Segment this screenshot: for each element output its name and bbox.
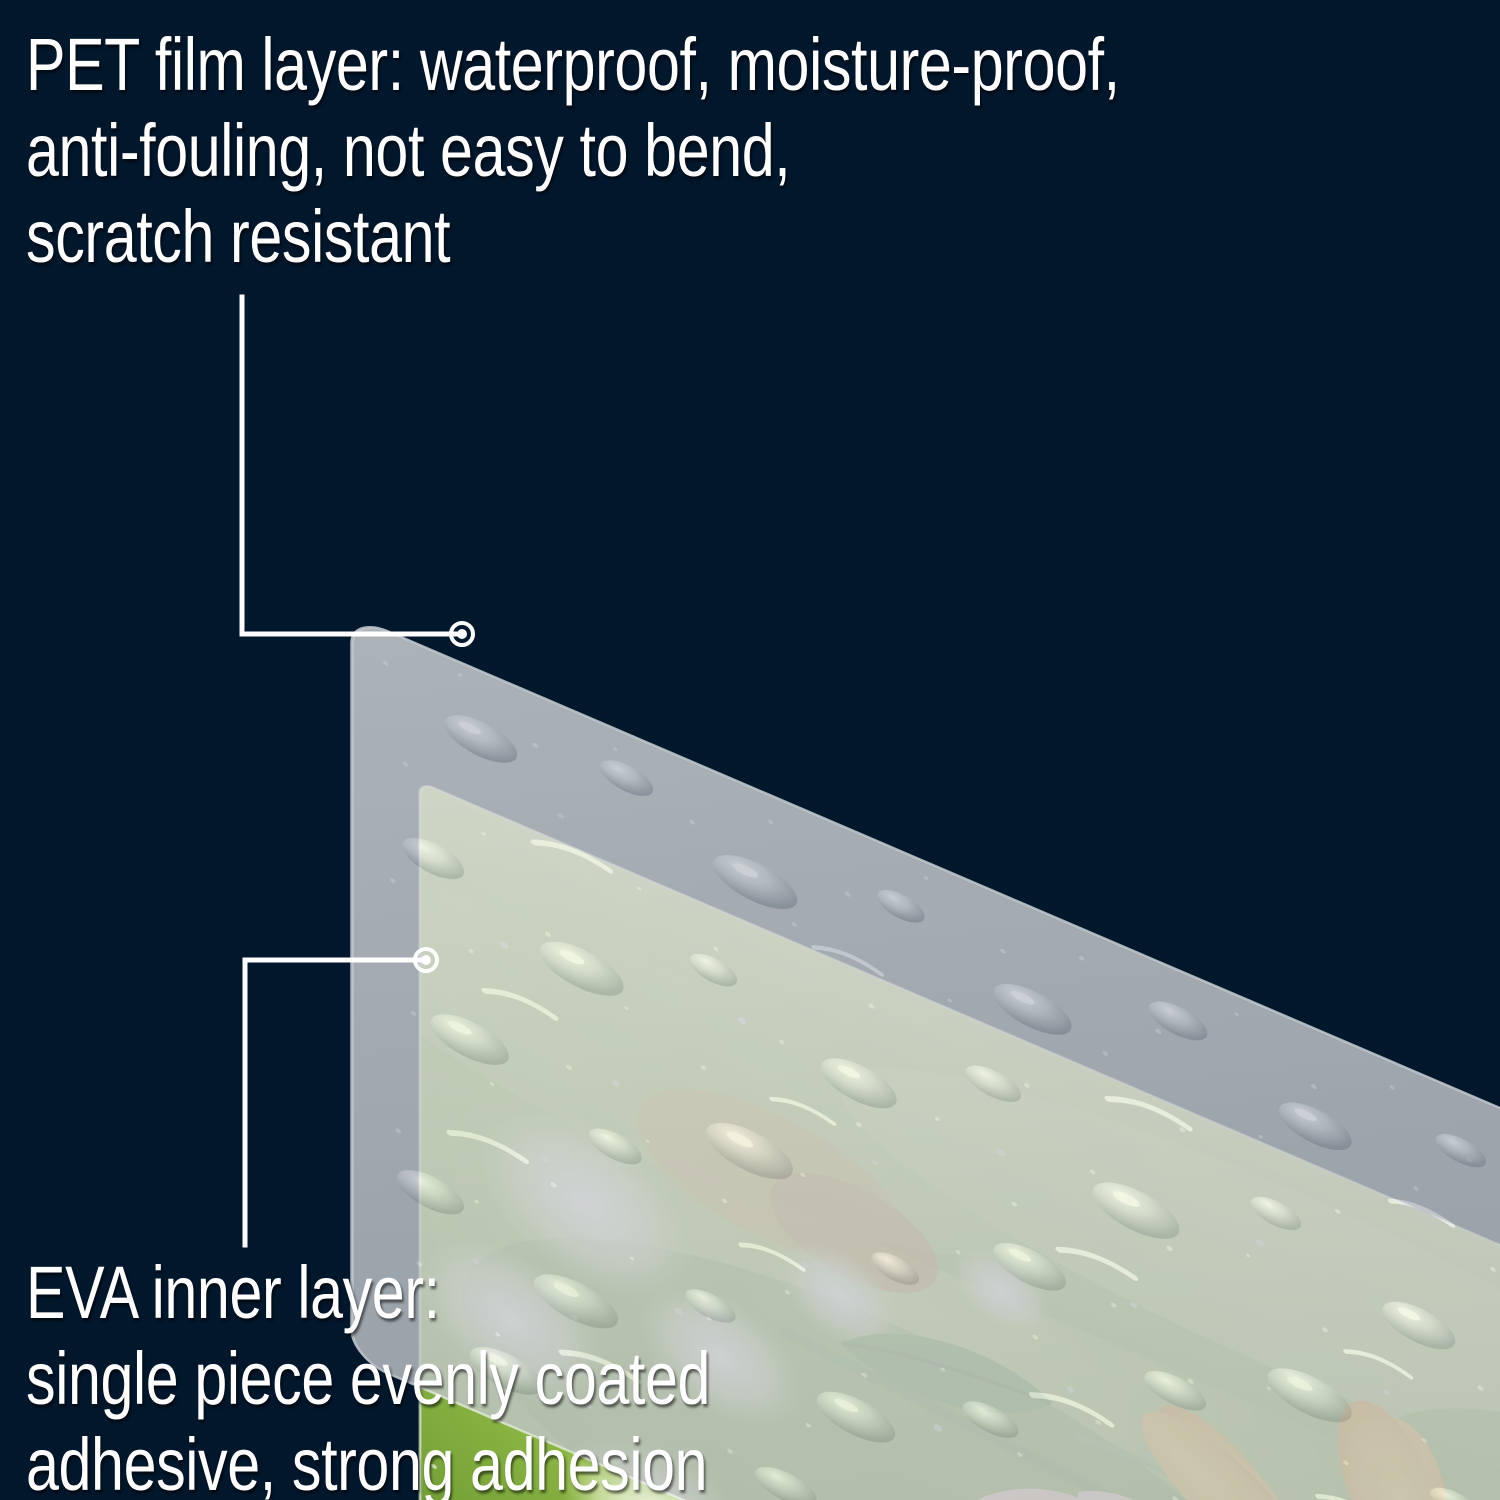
pet-film-layer-callout-text: PET film layer: waterproof, moisture-pro… [26,22,1120,280]
eva-leader-line [245,960,419,1245]
eva-callout-line-3: adhesive, strong adhesion [26,1422,710,1500]
pet-leader-line [242,297,455,634]
layer-diagram-canvas: PET film layer: waterproof, moisture-pro… [0,0,1500,1500]
eva-callout-line-2: single piece evenly coated [26,1336,710,1422]
pet-callout-line-3: scratch resistant [26,194,1120,280]
eva-inner-layer-callout-text: EVA inner layer: single piece evenly coa… [26,1250,710,1500]
pet-callout-line-2: anti-fouling, not easy to bend, [26,108,1120,194]
pet-callout-line-1: PET film layer: waterproof, moisture-pro… [26,22,1120,108]
eva-callout-line-1: EVA inner layer: [26,1250,710,1336]
